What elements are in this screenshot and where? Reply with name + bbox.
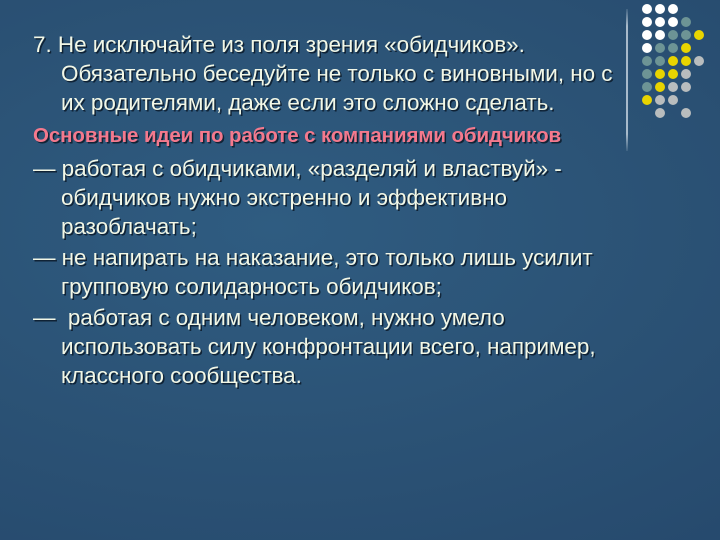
decorative-dot <box>681 56 691 66</box>
decorative-dot <box>642 17 652 27</box>
decorative-dot <box>655 43 665 53</box>
decorative-dot <box>642 43 652 53</box>
paragraph-bullet-1: — работая с обидчиками, «разделяй и влас… <box>33 154 633 241</box>
decorative-dot <box>642 4 652 14</box>
decorative-dot <box>681 30 691 40</box>
decorative-dot <box>655 4 665 14</box>
decorative-dot <box>668 95 678 105</box>
decorative-dot <box>694 56 704 66</box>
decorative-dot <box>655 95 665 105</box>
decorative-dot <box>668 43 678 53</box>
paragraph-item-7: 7. Не исключайте из поля зрения «обидчик… <box>33 30 633 117</box>
paragraph-bullet-3: — работая с одним человеком, нужно умело… <box>33 303 633 390</box>
decorative-dot <box>681 69 691 79</box>
dot-grid-decoration <box>642 4 720 124</box>
slide-body-content: 7. Не исключайте из поля зрения «обидчик… <box>33 30 633 390</box>
decorative-dot <box>655 56 665 66</box>
decorative-dot <box>642 30 652 40</box>
decorative-dot <box>681 82 691 92</box>
decorative-dot <box>655 17 665 27</box>
section-heading: Основные идеи по работе с компаниями оби… <box>33 121 633 150</box>
decorative-dot <box>681 43 691 53</box>
decorative-dot <box>655 30 665 40</box>
decorative-dot <box>642 95 652 105</box>
decorative-dot <box>655 108 665 118</box>
decorative-dot <box>668 30 678 40</box>
decorative-dot <box>642 69 652 79</box>
decorative-dot <box>668 82 678 92</box>
decorative-dot <box>681 17 691 27</box>
decorative-dot <box>668 17 678 27</box>
decorative-dot <box>655 69 665 79</box>
decorative-dot <box>668 56 678 66</box>
paragraph-bullet-2: — не напирать на наказание, это только л… <box>33 243 633 301</box>
decorative-dot <box>642 56 652 66</box>
decorative-dot <box>642 82 652 92</box>
decorative-dot <box>681 108 691 118</box>
decorative-dot <box>655 82 665 92</box>
slide-canvas: 7. Не исключайте из поля зрения «обидчик… <box>0 0 720 540</box>
decorative-dot <box>694 30 704 40</box>
decorative-dot <box>668 69 678 79</box>
decorative-dot <box>668 4 678 14</box>
